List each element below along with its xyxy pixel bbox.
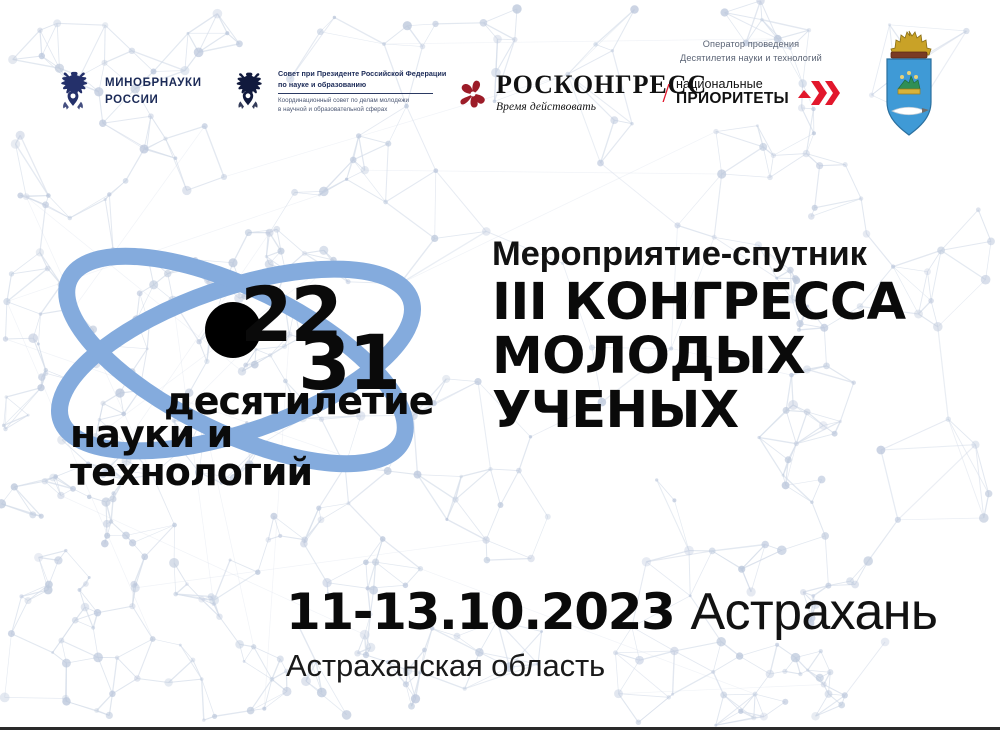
date-city-row: 11-13.10.2023 Астрахань (286, 586, 937, 638)
natsprioritety-line2: ПРИОРИТЕТЫ (676, 91, 789, 107)
event-poster: МИНОБРНАУКИ РОССИИ Совет при Президенте … (0, 0, 1000, 730)
coat-of-arms-icon (878, 28, 940, 138)
logo-minobrnauki: МИНОБРНАУКИ РОССИИ (52, 66, 202, 118)
natsprioritety-mark: национальные ПРИОРИТЕТЫ (662, 78, 840, 108)
triple-chevron-icon (796, 78, 840, 108)
sovet-line1: Совет при Президенте Российской Федераци… (278, 69, 446, 79)
event-region: Астраханская область (286, 650, 937, 681)
headline-line2: МОЛОДЫХ (492, 330, 906, 384)
decade-of-science-logo: 22 31 десятилетие науки и технологий (8, 222, 478, 497)
minobrnauki-line1: МИНОБРНАУКИ (105, 75, 202, 92)
headline-kicker: Мероприятие-спутник (492, 236, 906, 273)
pinwheel-flower-icon (458, 79, 488, 109)
operator-line1: Оператор проведения (680, 38, 822, 52)
sovet-wordmark: Совет при Президенте Российской Федераци… (278, 69, 446, 114)
headline-block: Мероприятие-спутник III КОНГРЕССА МОЛОДЫ… (492, 236, 906, 438)
logo-sovet-pri-prezidente: Совет при Президенте Российской Федераци… (228, 66, 446, 118)
slash-icon (662, 82, 671, 104)
minobrnauki-line2: РОССИИ (105, 92, 202, 109)
minobrnauki-wordmark: МИНОБРНАУКИ РОССИИ (105, 75, 202, 108)
event-date: 11-13.10.2023 (286, 587, 674, 637)
natsprioritety-wordmark: национальные ПРИОРИТЕТЫ (676, 78, 789, 107)
double-headed-eagle-icon (52, 66, 94, 118)
operator-caption: Оператор проведения Десятилетия науки и … (680, 38, 822, 66)
operator-line2: Десятилетия науки и технологий (680, 52, 822, 66)
headline-line1: III КОНГРЕССА (492, 276, 906, 330)
sovet-line4: в научной и образовательной сферах (278, 106, 446, 115)
sovet-line2: по науке и образованию (278, 80, 446, 90)
event-city: Астрахань (690, 586, 937, 638)
headline-line3: УЧЕНЫХ (492, 384, 906, 438)
header-logos: МИНОБРНАУКИ РОССИИ Совет при Президенте … (0, 0, 1000, 150)
sovet-line3: Координационный совет по делам молодежи (278, 97, 446, 106)
decade-word-line2: науки и технологий (70, 415, 478, 491)
sovet-divider (278, 93, 433, 94)
logo-astrakhan-coat-of-arms (878, 28, 940, 138)
double-headed-eagle-icon (228, 66, 268, 118)
logo-natsionalnye-prioritety: Оператор проведения Десятилетия науки и … (662, 38, 840, 108)
date-location-block: 11-13.10.2023 Астрахань Астраханская обл… (286, 586, 937, 681)
